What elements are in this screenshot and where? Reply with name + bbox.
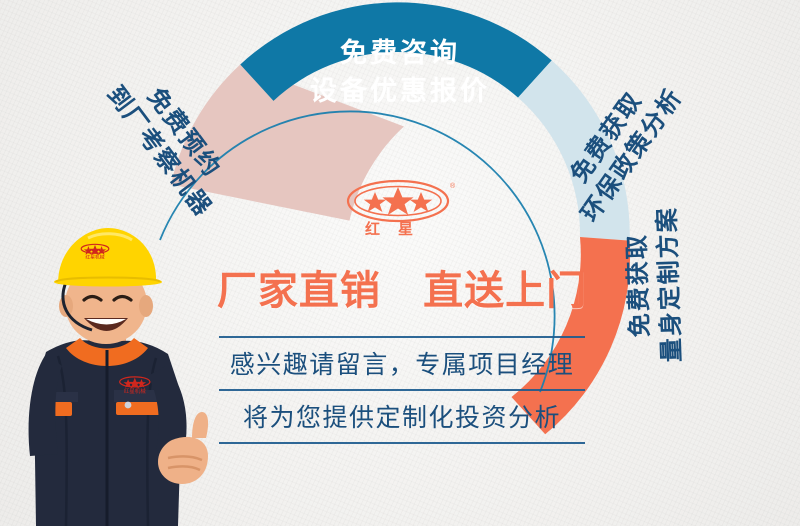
segment-custom-plan-shape[interactable] — [512, 237, 631, 434]
promo-banner: 免费预约 到厂考察机器 免费咨询 设备优惠报价 免费获取 环保政策分析 免费获取… — [0, 0, 800, 526]
segment-free-consult-label: 免费咨询 设备优惠报价 — [300, 34, 500, 111]
worker-photo: 红星机械 红星机械 — [0, 226, 224, 526]
segment-custom-plan-label: 免费获取 量身定制方案 — [621, 189, 689, 381]
